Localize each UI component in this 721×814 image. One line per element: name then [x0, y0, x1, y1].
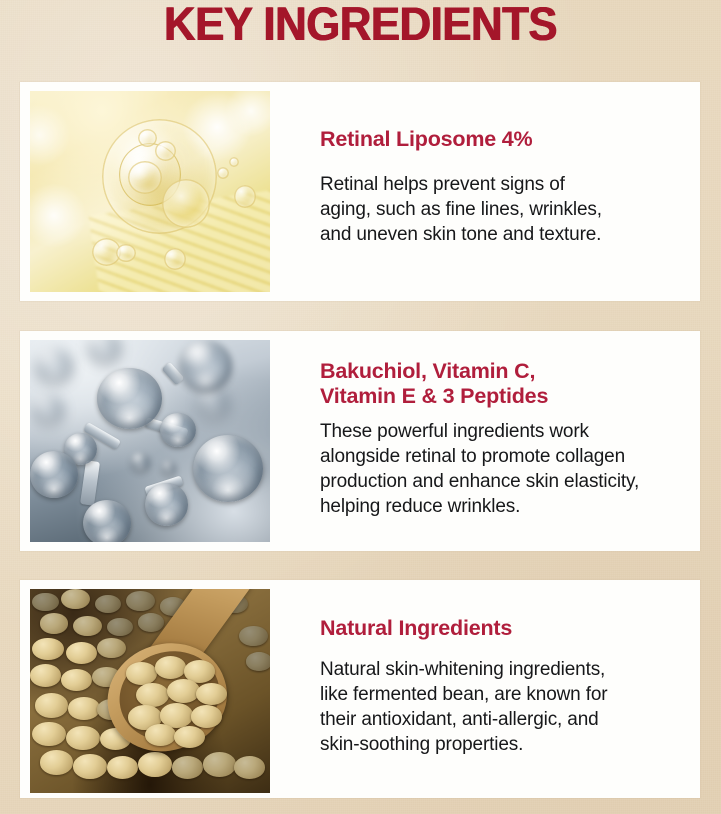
- background-atom: [131, 453, 150, 471]
- soybean: [40, 613, 69, 633]
- molecule-atom: [179, 340, 232, 391]
- background-atom: [35, 348, 73, 384]
- soybean-in-spoon: [155, 656, 186, 678]
- ingredient-card: Bakuchiol, Vitamin C, Vitamin E & 3 Pept…: [20, 331, 700, 551]
- molecule-atom: [30, 451, 78, 497]
- ingredient-description: These powerful ingredients work alongsid…: [320, 419, 686, 519]
- soybean-in-spoon: [191, 705, 222, 727]
- inner-bubble: [128, 161, 162, 193]
- ingredient-card: Retinal Liposome 4% Retinal helps preven…: [20, 82, 700, 301]
- soybean: [40, 750, 74, 774]
- molecule-atom: [145, 483, 188, 525]
- molecular-bond: [80, 460, 100, 506]
- soybean: [239, 626, 268, 646]
- background-atom: [162, 461, 176, 475]
- soybean: [172, 756, 203, 778]
- soybean: [97, 638, 126, 658]
- molecule-atom: [193, 435, 263, 502]
- soybean: [126, 591, 155, 611]
- soybean: [30, 664, 61, 686]
- soybean: [73, 754, 107, 778]
- golden-oil-bubbles-image: [30, 91, 270, 292]
- page-title: KEY INGREDIENTS: [25, 0, 696, 50]
- molecule-structure-image: [30, 340, 270, 542]
- small-bubble: [234, 185, 256, 207]
- soybean: [107, 618, 133, 636]
- soybean: [68, 697, 99, 719]
- ingredient-description: Natural skin-whitening ingredients, like…: [320, 657, 686, 757]
- oil-bubbles-artwork: [30, 91, 270, 292]
- background-atom: [88, 340, 122, 364]
- soybean: [66, 726, 100, 750]
- small-bubble: [164, 248, 186, 270]
- ingredient-description: Retinal helps prevent signs of aging, su…: [320, 172, 686, 247]
- soybean: [32, 638, 63, 660]
- soybean: [246, 652, 270, 670]
- ingredient-heading: Retinal Liposome 4%: [320, 127, 686, 152]
- soybean: [73, 616, 102, 636]
- molecule-atom: [97, 368, 162, 429]
- soybean-in-spoon: [196, 683, 227, 705]
- soybean: [95, 595, 121, 613]
- molecule-artwork: [30, 340, 270, 542]
- soybean: [138, 752, 172, 776]
- soybean: [66, 642, 97, 664]
- background-atom: [32, 395, 63, 425]
- small-bubble: [217, 167, 229, 179]
- ingredient-card: Natural Ingredients Natural skin-whiteni…: [20, 580, 700, 798]
- soybean: [35, 693, 69, 717]
- soybean: [32, 722, 66, 746]
- soybean: [138, 613, 164, 631]
- ingredient-heading: Natural Ingredients: [320, 616, 686, 641]
- soybean: [203, 752, 237, 776]
- key-ingredients-infographic: KEY INGREDIENTS Retinal Liposome 4%: [0, 0, 721, 814]
- small-bubble: [116, 244, 135, 262]
- card-text-block: Natural Ingredients Natural skin-whiteni…: [270, 580, 700, 757]
- soybean: [32, 593, 58, 611]
- card-text-block: Retinal Liposome 4% Retinal helps preven…: [270, 82, 700, 247]
- side-bubble: [162, 179, 210, 227]
- small-bubble: [229, 157, 239, 167]
- molecule-atom: [83, 500, 131, 542]
- soybean-in-spoon: [126, 662, 157, 684]
- soybeans-spoon-image: [30, 589, 270, 793]
- soybean-in-spoon: [174, 726, 205, 748]
- background-atom: [198, 388, 229, 418]
- soybeans-artwork: [30, 589, 270, 793]
- soybean: [61, 589, 90, 609]
- soybean: [234, 756, 265, 778]
- soybean: [107, 756, 138, 778]
- ingredient-heading: Bakuchiol, Vitamin C, Vitamin E & 3 Pept…: [320, 359, 686, 409]
- molecule-atom: [160, 413, 196, 447]
- card-text-block: Bakuchiol, Vitamin C, Vitamin E & 3 Pept…: [270, 331, 700, 519]
- soybean: [61, 669, 92, 691]
